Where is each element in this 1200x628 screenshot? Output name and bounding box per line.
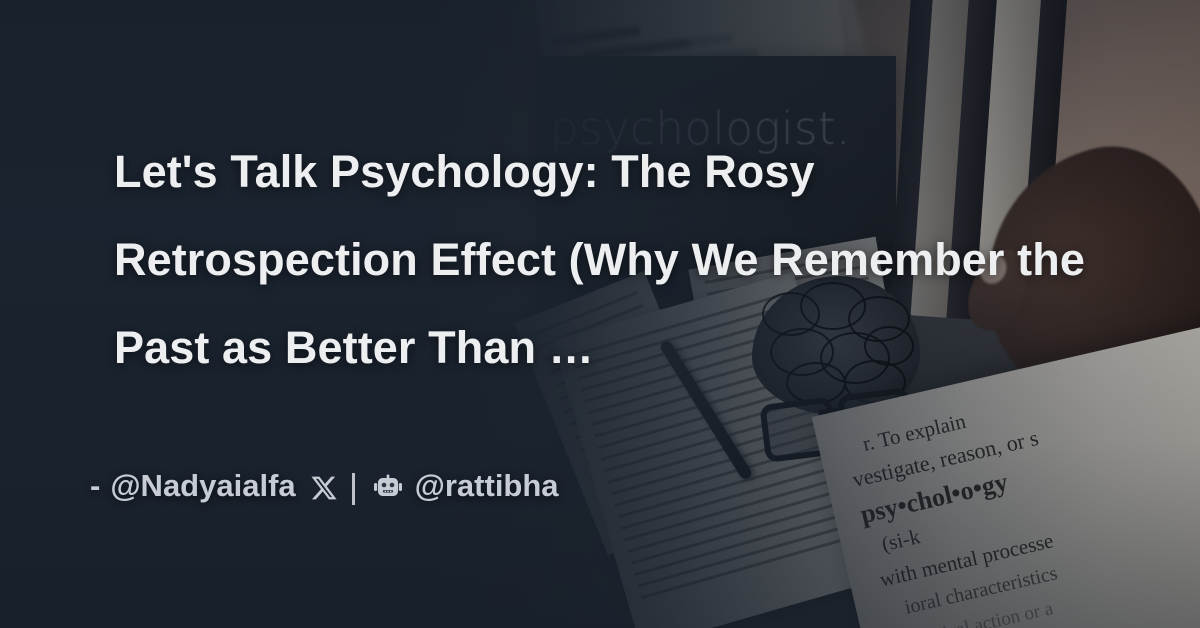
- platform-handle: @rattibha: [415, 468, 559, 504]
- card-content: Let's Talk Psychology: The Rosy Retrospe…: [0, 0, 1200, 628]
- author-handle: @Nadyaialfa: [110, 468, 295, 504]
- byline-dash: -: [90, 468, 100, 504]
- social-share-card: psychologist.: [0, 0, 1200, 628]
- x-logo-icon: [310, 474, 338, 502]
- byline: - @Nadyaialfa: [90, 468, 559, 504]
- page-title: Let's Talk Psychology: The Rosy Retrospe…: [114, 128, 1124, 392]
- robot-icon: [373, 474, 403, 500]
- byline-separator: [352, 473, 355, 505]
